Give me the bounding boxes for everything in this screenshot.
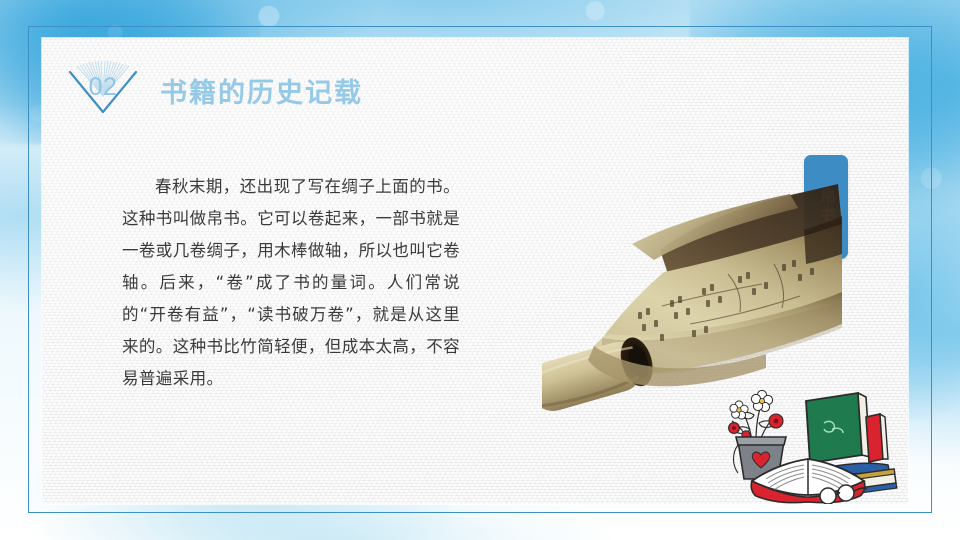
books-and-flowers-illustration	[710, 379, 900, 504]
page-title: 书籍的历史记载	[160, 71, 363, 110]
content-paper-card: 02 书籍的历史记载 春秋末期，还出现了写在绸子上面的书。这种书叫做帛书。它可以…	[42, 38, 908, 504]
body-paragraph: 春秋末期，还出现了写在绸子上面的书。这种书叫做帛书。它可以卷起来，一部书就是一卷…	[122, 171, 460, 395]
slide-root: 02 书籍的历史记载 春秋末期，还出现了写在绸子上面的书。这种书叫做帛书。它可以…	[0, 0, 960, 540]
section-header: 02 书籍的历史记载	[64, 60, 363, 120]
section-number: 02	[64, 73, 142, 102]
fan-chevron-icon: 02	[64, 60, 142, 120]
